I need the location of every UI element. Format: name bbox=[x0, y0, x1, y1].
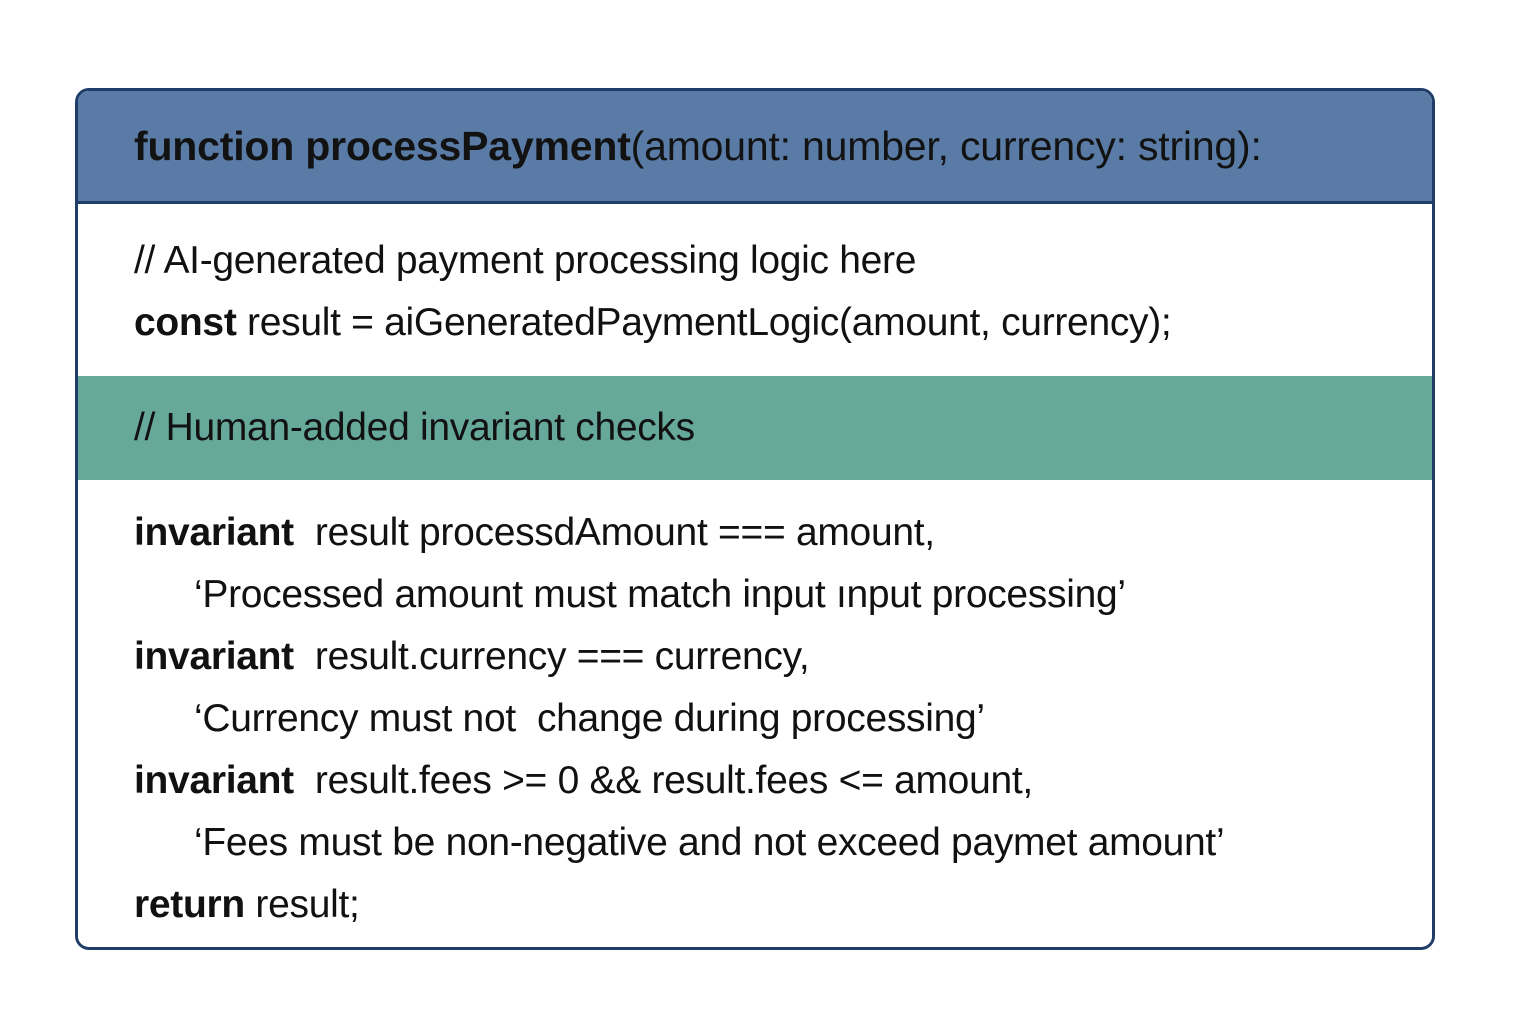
invariant-condition: result.fees >= 0 && result.fees <= amoun… bbox=[294, 759, 1033, 802]
invariant-condition: result processdAmount === amount, bbox=[294, 511, 935, 554]
invariant-keyword: invariant bbox=[134, 511, 294, 554]
function-name: processPayment bbox=[305, 123, 630, 169]
human-added-comment: // Human-added invariant checks bbox=[134, 402, 695, 454]
human-added-highlight-band: // Human-added invariant checks bbox=[78, 376, 1432, 480]
return-expression: result; bbox=[245, 883, 360, 926]
function-signature-header: function processPayment(amount: number, … bbox=[78, 91, 1432, 204]
invariant-message: ‘Currency must not change during process… bbox=[134, 688, 1432, 750]
invariant-checks-section: invariant result processdAmount === amou… bbox=[78, 480, 1432, 946]
function-params: (amount: number, currency: string): bbox=[631, 123, 1262, 169]
const-keyword: const bbox=[134, 301, 237, 344]
invariant-message: ‘Processed amount must match input ınput… bbox=[134, 564, 1432, 626]
ai-comment-line: // AI-generated payment processing logic… bbox=[134, 230, 1432, 292]
ai-generated-section: // AI-generated payment processing logic… bbox=[78, 204, 1432, 376]
const-expression: result = aiGeneratedPaymentLogic(amount,… bbox=[237, 301, 1172, 344]
return-keyword: return bbox=[134, 883, 245, 926]
invariant-keyword: invariant bbox=[134, 635, 294, 678]
invariant-line: invariant result.currency === currency, bbox=[134, 626, 1432, 688]
invariant-line: invariant result.fees >= 0 && result.fee… bbox=[134, 750, 1432, 812]
screenshot-canvas: function processPayment(amount: number, … bbox=[0, 0, 1536, 1024]
invariant-condition: result.currency === currency, bbox=[294, 635, 810, 678]
code-snippet-card: function processPayment(amount: number, … bbox=[75, 88, 1435, 950]
return-line: return result; bbox=[134, 874, 1432, 936]
invariant-line: invariant result processdAmount === amou… bbox=[134, 502, 1432, 564]
ai-declaration-line: const result = aiGeneratedPaymentLogic(a… bbox=[134, 292, 1432, 354]
function-keyword: function bbox=[134, 123, 294, 169]
function-signature-text: function processPayment(amount: number, … bbox=[134, 123, 1262, 170]
invariant-message: ‘Fees must be non-negative and not excee… bbox=[134, 812, 1432, 874]
invariant-keyword: invariant bbox=[134, 759, 294, 802]
